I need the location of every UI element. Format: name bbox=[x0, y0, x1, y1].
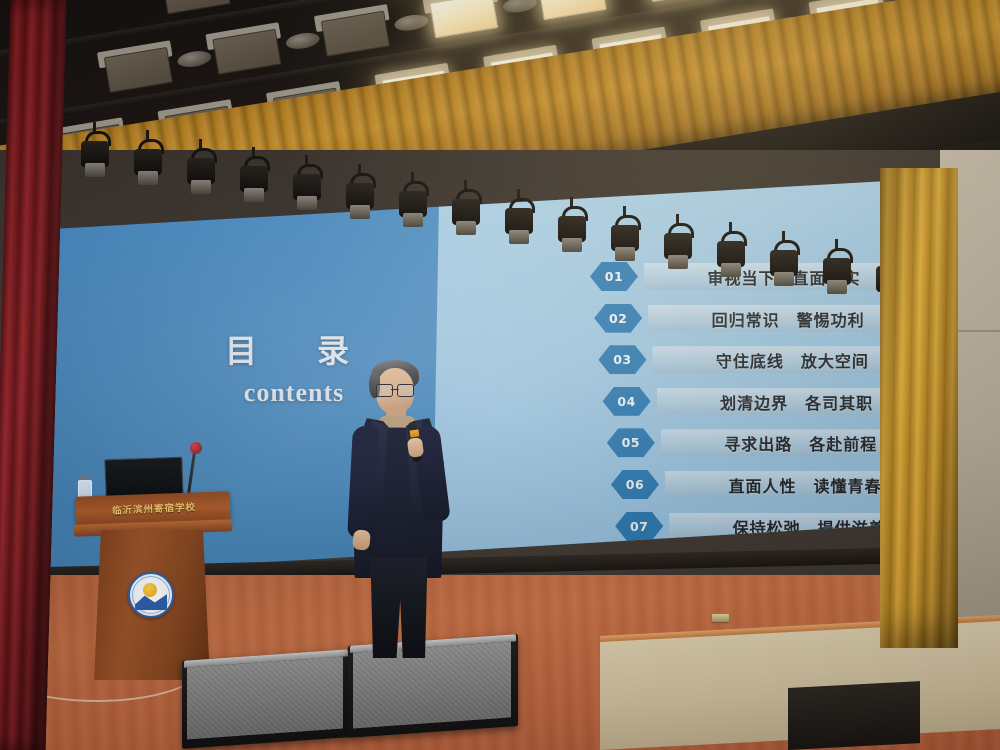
slide-item-number-badge: 07 bbox=[615, 512, 663, 541]
floor-outlet bbox=[712, 614, 729, 622]
ceiling-speaker-grille bbox=[393, 13, 429, 33]
slide-contents-row: 04划清边界 各司其职 bbox=[532, 384, 932, 414]
slide-item-number-badge: 04 bbox=[603, 387, 651, 416]
ceiling-panel-light bbox=[429, 0, 498, 39]
emblem-sun-icon bbox=[143, 583, 157, 597]
presenter-legs bbox=[368, 558, 430, 658]
presenter bbox=[338, 360, 456, 660]
gooseneck-microphone bbox=[187, 450, 196, 496]
slide-item-number-badge: 01 bbox=[590, 262, 638, 291]
slide-contents-row: 02回归常识 警惕功利 bbox=[532, 303, 932, 333]
lectern[interactable]: 临沂滨州寄宿学校 bbox=[72, 456, 234, 684]
slide-contents-row: 05寻求出路 各赴前程 bbox=[532, 424, 932, 454]
ceiling-speaker-grille bbox=[176, 49, 212, 69]
school-emblem-icon bbox=[128, 572, 174, 618]
ceiling-panel-light bbox=[538, 0, 607, 20]
auditorium-photo: 目 录 contents 01审视当下 直面现实02回归常识 警惕功利03守住底… bbox=[0, 0, 1000, 750]
stage-monitor-speaker bbox=[182, 649, 350, 749]
ceiling-speaker-grille bbox=[502, 0, 538, 15]
slide-item-number-badge: 06 bbox=[611, 470, 659, 499]
slide-item-number-badge: 03 bbox=[598, 345, 646, 374]
ceiling-panel-light bbox=[162, 0, 231, 14]
presenter-hand-left bbox=[352, 529, 371, 551]
stage-apron-opening bbox=[788, 681, 920, 750]
right-stage-curtain bbox=[880, 168, 958, 648]
slide-contents-row: 06直面人性 读懂青春 bbox=[532, 465, 932, 495]
presenter-hand-right bbox=[407, 437, 424, 458]
microphone-windscreen-icon bbox=[190, 442, 202, 454]
ceiling-speaker-grille bbox=[285, 31, 321, 51]
slide-item-number-badge: 05 bbox=[607, 428, 655, 457]
microphone-band bbox=[410, 429, 420, 437]
slide-contents-row: 03守住底线 放大空间 bbox=[532, 343, 932, 373]
slide-item-number-badge: 02 bbox=[594, 304, 642, 333]
presenter-glasses-icon bbox=[376, 384, 414, 395]
